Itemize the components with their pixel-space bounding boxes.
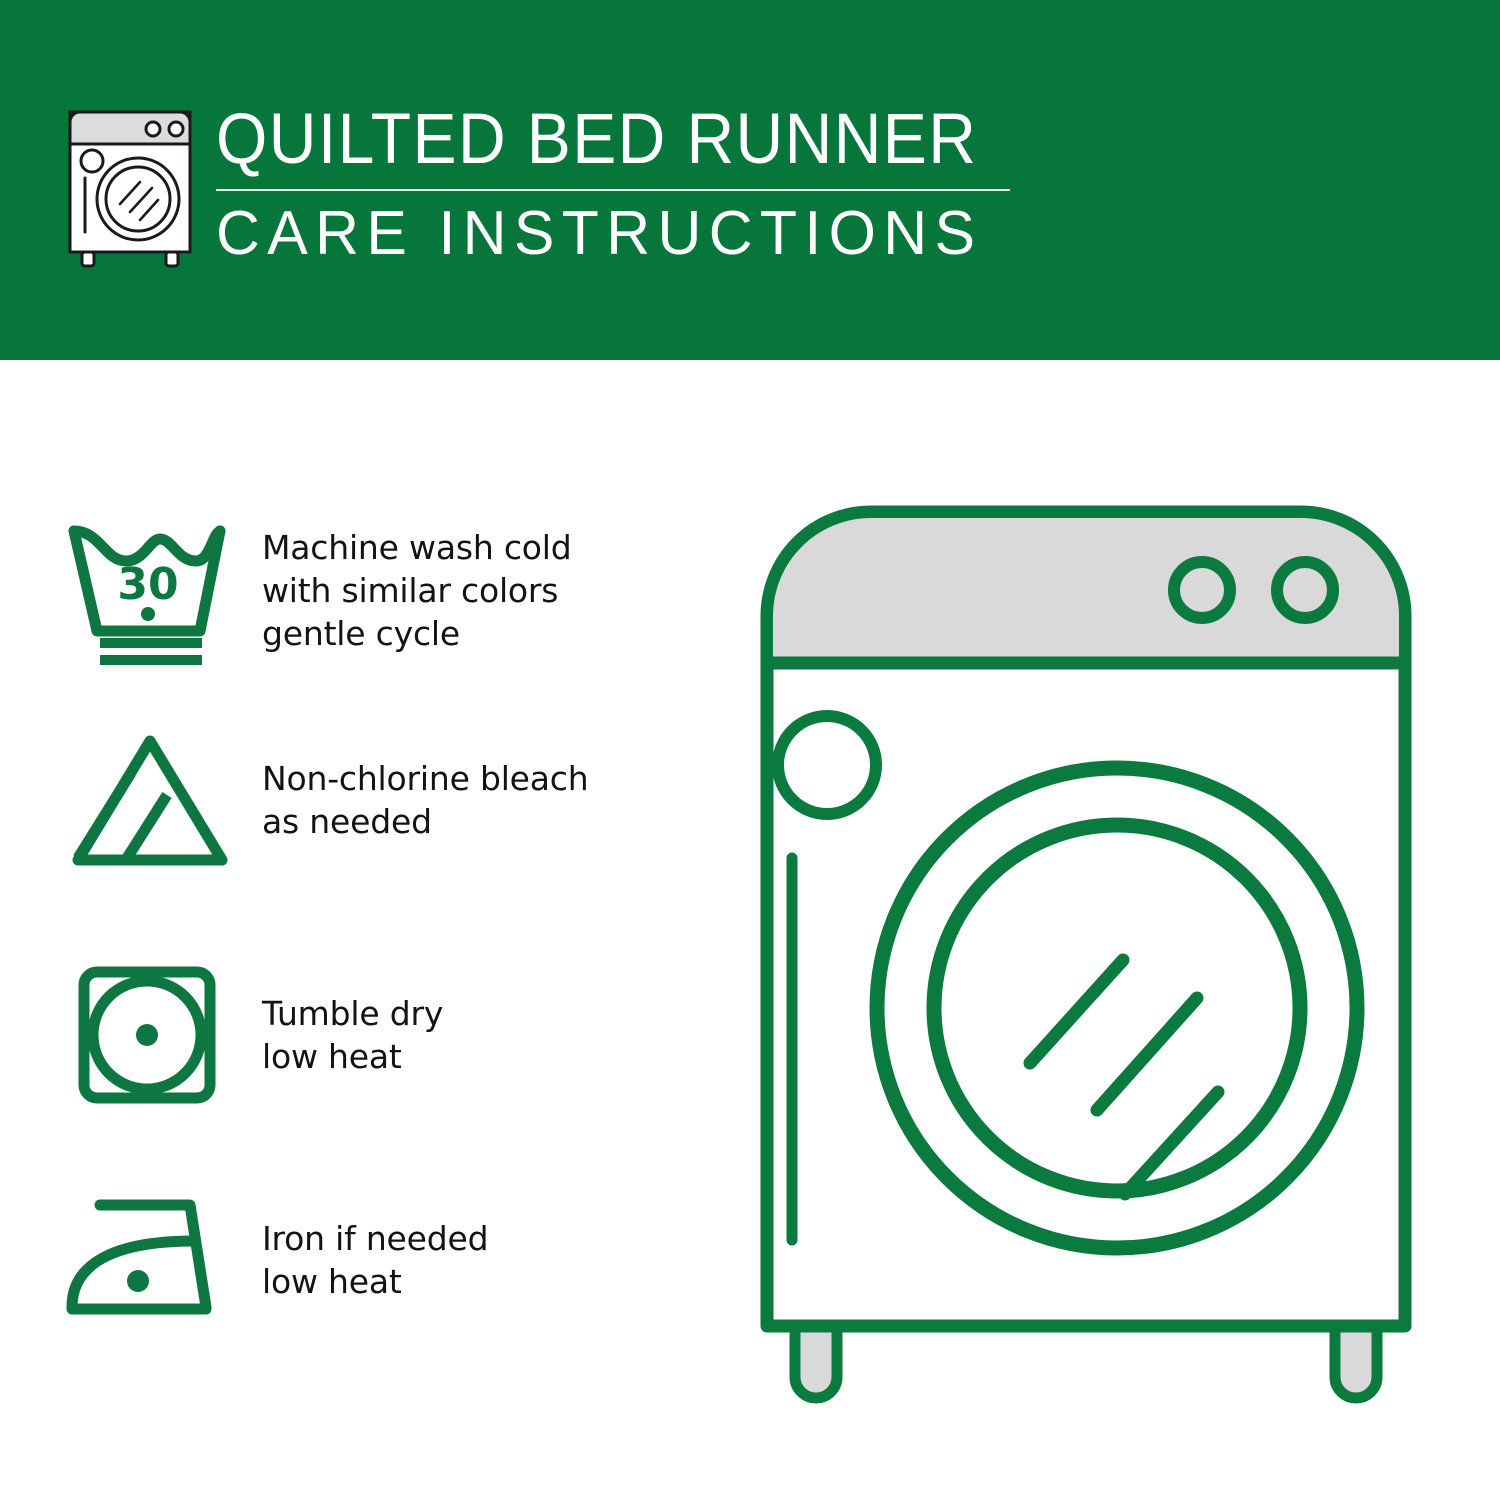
detergent-dispenser-circle: [778, 716, 876, 814]
care-line: with similar colors: [262, 569, 572, 612]
header-text-block: QUILTED BED RUNNER CARE INSTRUCTIONS: [216, 100, 1016, 269]
care-line: low heat: [262, 1035, 443, 1078]
care-item-machine-wash: 30 Machine wash cold with similar colors…: [0, 515, 700, 665]
care-item-iron: Iron if needed low heat: [0, 1185, 700, 1335]
care-line: low heat: [262, 1260, 488, 1303]
washer-leg: [795, 1325, 837, 1398]
care-line: gentle cycle: [262, 612, 572, 655]
care-line: Machine wash cold: [262, 526, 572, 569]
title-divider: [216, 189, 1010, 191]
wash-temperature-label: 30: [117, 559, 178, 610]
care-item-label: Non-chlorine bleach as needed: [262, 757, 588, 843]
drum-inner-ring: [934, 825, 1300, 1191]
washer-leg: [1335, 1325, 1377, 1398]
care-item-label: Machine wash cold with similar colors ge…: [262, 526, 572, 655]
washing-machine-icon: [60, 104, 210, 269]
tumble-dry-low-heat-icon: [60, 960, 240, 1110]
page-subtitle: CARE INSTRUCTIONS: [216, 199, 1000, 269]
care-item-label: Iron if needed low heat: [262, 1217, 488, 1303]
front-load-washing-machine-illustration: [735, 480, 1465, 1430]
page-title: QUILTED BED RUNNER: [216, 100, 960, 180]
care-item-bleach: Non-chlorine bleach as needed: [0, 725, 700, 875]
care-item-tumble-dry: Tumble dry low heat: [0, 960, 700, 1110]
header-banner: QUILTED BED RUNNER CARE INSTRUCTIONS: [0, 0, 1500, 360]
non-chlorine-bleach-triangle-icon: [60, 725, 240, 875]
care-line: Tumble dry: [262, 992, 443, 1035]
wash-tub-30-gentle-icon: 30: [60, 515, 240, 665]
care-line: Iron if needed: [262, 1217, 488, 1260]
iron-low-heat-icon: [60, 1185, 240, 1335]
care-item-label: Tumble dry low heat: [262, 992, 443, 1078]
care-instruction-list: 30 Machine wash cold with similar colors…: [0, 360, 700, 1500]
care-line: Non-chlorine bleach: [262, 757, 588, 800]
care-line: as needed: [262, 800, 588, 843]
